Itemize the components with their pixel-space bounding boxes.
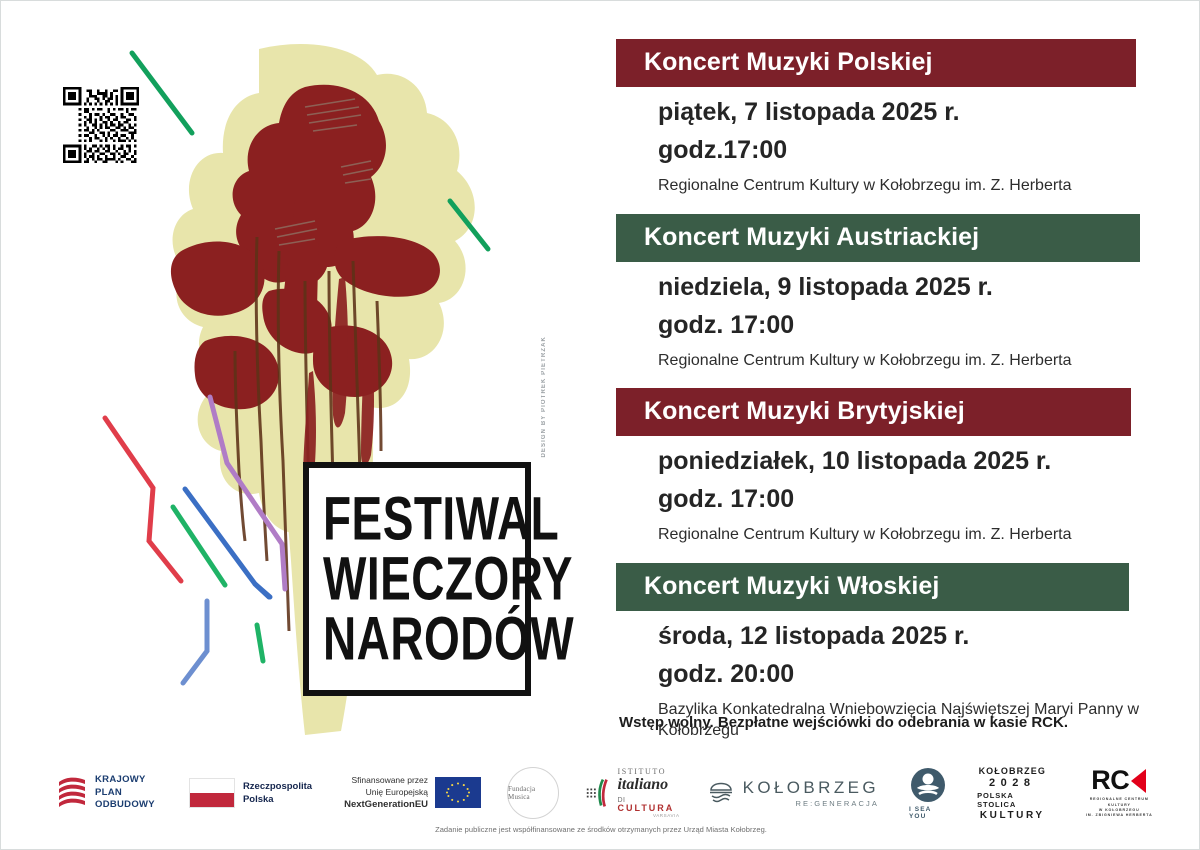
rck-subtext: REGIONALNE CENTRUM KULTURY W KOŁOBRZEGU …	[1082, 797, 1158, 819]
concert-date: niedziela, 9 listopada 2025 r.	[616, 262, 1146, 300]
rck-sub-3: IM. ZBIGNIEWA HERBERTA	[1082, 813, 1158, 818]
festival-title-line-3: NARODÓW	[323, 609, 509, 670]
rck-wordmark: RC	[1091, 767, 1147, 794]
kolobrzeg-tagline: RE:GENERACJA	[743, 800, 879, 808]
iic-sub: VARSAVIA	[617, 814, 679, 819]
concert-venue: Regionalne Centrum Kultury w Kołobrzegu …	[616, 338, 1146, 372]
logo-kolobrzeg-regeneracja: KOŁOBRZEG RE:GENERACJA	[708, 779, 879, 808]
artwork-column: FESTIWAL WIECZORY NARODÓW DESIGN BY PIOT…	[1, 1, 601, 761]
istituto-italiano-wordmark: ISTITUTO italiano DI CULTURA VARSAVIA	[617, 768, 679, 819]
iic-italiano: italiano	[617, 777, 679, 793]
k28-line-3: POLSKA STOLICA	[977, 791, 1047, 809]
concert-time: godz. 17:00	[616, 300, 1146, 338]
fundacja-musica-circle-icon: Fundacja Musica	[507, 767, 559, 819]
k28-line-2: 2028	[989, 777, 1035, 789]
rck-letters: RC	[1091, 767, 1129, 794]
footer: KRAJOWY PLAN ODBUDOWY Rzeczpospolita Pol…	[1, 759, 1200, 849]
concert-title-bar: Koncert Muzyki Włoskiej	[616, 563, 1129, 611]
sponsor-logo-row: KRAJOWY PLAN ODBUDOWY Rzeczpospolita Pol…	[57, 765, 1157, 821]
logo-rck: RC REGIONALNE CENTRUM KULTURY W KOŁOBRZE…	[1082, 767, 1158, 819]
kpo-line-2: PLAN	[95, 787, 155, 800]
kpo-line-1: KRAJOWY	[95, 774, 155, 787]
rp-text: Rzeczpospolita Polska	[243, 780, 312, 807]
kpo-stripes-icon	[57, 776, 87, 810]
logo-next-generation-eu: Sfinansowane przez Unię Europejską NextG…	[344, 774, 481, 812]
kolobrzeg-wave-icon	[708, 782, 734, 804]
free-entry-note: Wstęp wolny. Bezpłatne wejściówki do ode…	[619, 714, 1068, 731]
concert-item: Koncert Muzyki Austriackiej niedziela, 9…	[616, 214, 1146, 372]
k28-line-1: KOŁOBRZEG	[979, 766, 1046, 776]
festival-title-line-1: FESTIWAL	[323, 489, 509, 550]
rp-line-1: Rzeczpospolita	[243, 780, 312, 793]
eu-flag-icon	[435, 777, 481, 808]
fundacja-musica-name: Fundacja Musica	[508, 785, 558, 801]
concert-item: Koncert Muzyki Brytyjskiej poniedziałek,…	[616, 388, 1146, 546]
concert-time: godz. 20:00	[616, 649, 1146, 687]
logo-istituto-italiano-di-cultura: ISTITUTO italiano DI CULTURA VARSAVIA	[585, 768, 680, 819]
eu-line-1: Sfinansowane przez	[344, 774, 428, 786]
concert-time: godz.17:00	[616, 125, 1146, 163]
iic-istituto: ISTITUTO	[617, 768, 679, 776]
concert-title-bar: Koncert Muzyki Austriackiej	[616, 214, 1140, 262]
concert-title-bar: Koncert Muzyki Polskiej	[616, 39, 1136, 87]
rck-arrow-icon	[1130, 769, 1147, 793]
concert-item: Koncert Muzyki Polskiej piątek, 7 listop…	[616, 39, 1146, 197]
eu-text: Sfinansowane przez Unię Europejską NextG…	[344, 774, 428, 812]
concert-venue: Regionalne Centrum Kultury w Kołobrzegu …	[616, 163, 1146, 197]
festival-title-line-2: WIECZORY	[323, 549, 509, 610]
concert-date: poniedziałek, 10 listopada 2025 r.	[616, 436, 1146, 474]
istituto-italiano-mark-icon	[585, 776, 615, 810]
kpo-line-3: ODBUDOWY	[95, 799, 155, 812]
logo-rzeczpospolita-polska: Rzeczpospolita Polska	[189, 778, 312, 808]
logo-krajowy-plan-odbudowy: KRAJOWY PLAN ODBUDOWY	[57, 774, 155, 812]
funding-disclaimer: Zadanie publiczne jest współfinansowane …	[1, 825, 1200, 834]
concert-time: godz. 17:00	[616, 474, 1146, 512]
eu-line-2: Unię Europejską	[344, 786, 428, 798]
poster-root: FESTIWAL WIECZORY NARODÓW DESIGN BY PIOT…	[0, 0, 1200, 850]
concert-venue: Regionalne Centrum Kultury w Kołobrzegu …	[616, 512, 1146, 546]
kolobrzeg-wordmark: KOŁOBRZEG RE:GENERACJA	[743, 779, 879, 808]
kolobrzeg-name: KOŁOBRZEG	[743, 779, 879, 796]
k28-line-4: KULTURY	[980, 810, 1045, 821]
logo-kolobrzeg-2028: KOŁOBRZEG 2028 POLSKA STOLICA KULTURY	[977, 766, 1047, 821]
kpo-text: KRAJOWY PLAN ODBUDOWY	[95, 774, 155, 812]
concert-date: środa, 12 listopada 2025 r.	[616, 611, 1146, 649]
i-sea-you-eye-icon	[910, 767, 946, 803]
rp-line-2: Polska	[243, 793, 312, 806]
logo-fundacja-musica: Fundacja Musica	[507, 767, 559, 819]
concert-date: piątek, 7 listopada 2025 r.	[616, 87, 1146, 125]
concert-list: Koncert Muzyki Polskiej piątek, 7 listop…	[616, 39, 1146, 742]
polish-flag-icon	[189, 778, 235, 808]
iic-cultura-row: DI CULTURA	[617, 795, 679, 813]
design-credit: DESIGN BY PIOTREK PIETRZAK	[541, 336, 561, 458]
iic-cultura: CULTURA	[617, 803, 674, 813]
i-sea-you-name: I SEA YOU	[909, 806, 947, 820]
concert-title-bar: Koncert Muzyki Brytyjskiej	[616, 388, 1131, 436]
logo-i-sea-you: I SEA YOU	[909, 767, 947, 820]
festival-title-box: FESTIWAL WIECZORY NARODÓW	[303, 462, 531, 696]
eu-line-3: NextGenerationEU	[344, 798, 428, 812]
rck-sub-1: REGIONALNE CENTRUM KULTURY	[1082, 797, 1158, 808]
